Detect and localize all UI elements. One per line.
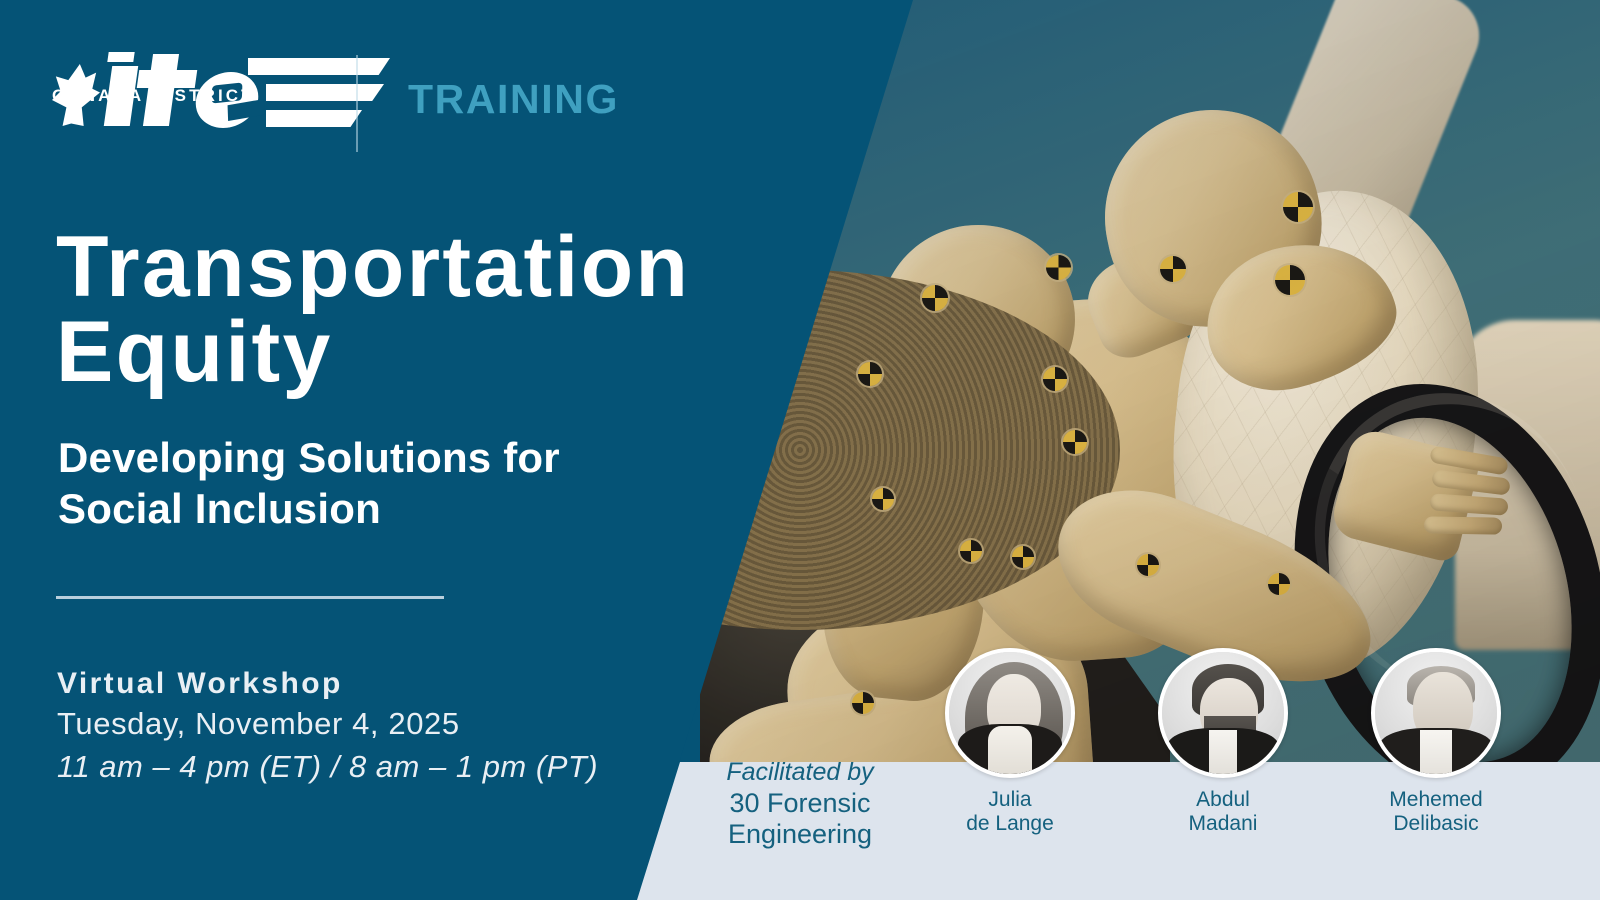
facilitator-name-line-1: 30 Forensic [700, 788, 900, 820]
presenter-mehemed-delibasic: Mehemed Delibasic [1366, 648, 1506, 837]
ite-logo [52, 52, 314, 160]
ite-logo-lockup [52, 52, 314, 160]
presenter-last-name: Delibasic [1366, 812, 1506, 836]
avatar-shirt [1209, 730, 1237, 774]
title-line-2: Equity [56, 310, 690, 395]
presenter-first-name: Julia [940, 788, 1080, 812]
presenter-abdul-madani: Abdul Madani [1153, 648, 1293, 837]
divider-rule [56, 596, 444, 599]
avatar-shirt [988, 726, 1032, 774]
logo-divider [356, 55, 358, 152]
page-subtitle: Developing Solutions for Social Inclusio… [58, 432, 560, 534]
event-format: Virtual Workshop [57, 667, 343, 701]
presenter-name: Mehemed Delibasic [1366, 788, 1506, 837]
avatar [1158, 648, 1288, 778]
speed-bar-2 [266, 84, 384, 101]
facilitated-by-label: Facilitated by [700, 758, 900, 788]
logo-subtitle: CANADA DISTRICT [52, 86, 255, 106]
speed-bar-1 [248, 58, 390, 75]
presenter-name: Julia de Lange [940, 788, 1080, 837]
facilitator-name-line-2: Engineering [700, 819, 900, 851]
letter-i-dot [107, 52, 134, 62]
presenter-last-name: de Lange [940, 812, 1080, 836]
presenter-last-name: Madani [1153, 812, 1293, 836]
promo-poster: CANADA DISTRICT TRAINING Transportation … [0, 0, 1600, 900]
speed-bar-3 [266, 110, 362, 127]
presenter-first-name: Abdul [1153, 788, 1293, 812]
event-time: 11 am – 4 pm (ET) / 8 am – 1 pm (PT) [57, 749, 598, 785]
presenter-name: Abdul Madani [1153, 788, 1293, 837]
avatar-shirt [1420, 730, 1452, 774]
presenter-julia-de-lange: Julia de Lange [940, 648, 1080, 837]
avatar [1371, 648, 1501, 778]
subtitle-line-1: Developing Solutions for [58, 432, 560, 483]
subtitle-line-2: Social Inclusion [58, 483, 560, 534]
page-title: Transportation Equity [56, 225, 690, 395]
presenter-first-name: Mehemed [1366, 788, 1506, 812]
avatar [945, 648, 1075, 778]
facilitator-block: Facilitated by 30 Forensic Engineering [700, 758, 900, 851]
event-date: Tuesday, November 4, 2025 [57, 706, 460, 742]
title-line-1: Transportation [56, 219, 690, 315]
category-label: TRAINING [408, 76, 619, 123]
